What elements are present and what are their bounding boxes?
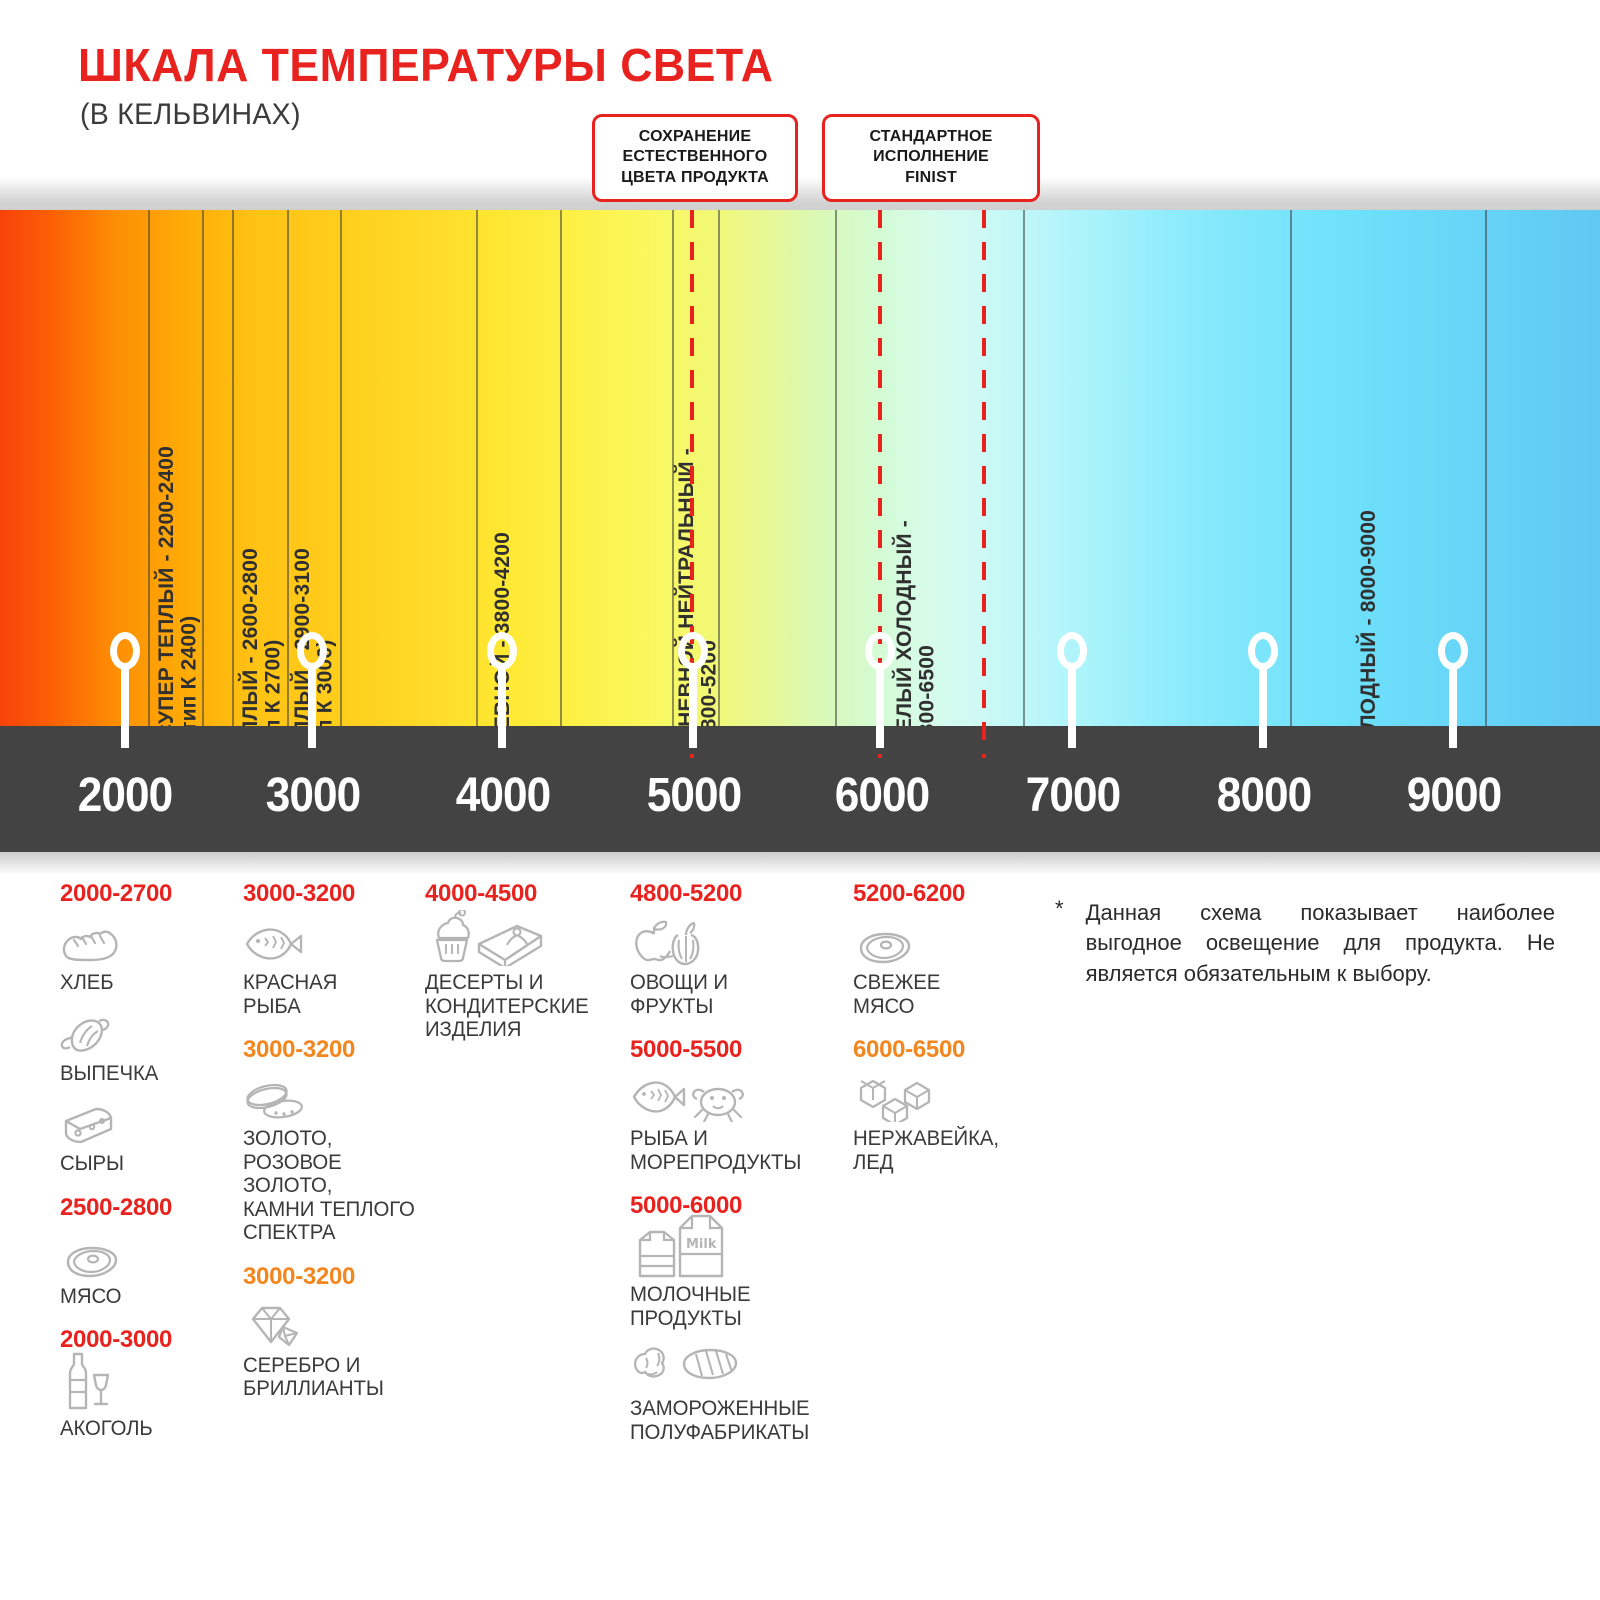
dashed-line-finist-end <box>982 210 986 758</box>
band-separator <box>340 210 342 726</box>
legend-item-label: ВЫПЕЧКА <box>60 1062 235 1086</box>
pin-head <box>865 632 895 670</box>
legend-group: 3000-3200СЕРЕБРО ИБРИЛЛИАНТЫ <box>243 1263 423 1401</box>
scale-tick-9000: 9000 <box>1407 768 1502 823</box>
pin-stem <box>689 666 697 748</box>
svg-text:Milk: Milk <box>686 1237 717 1252</box>
frozen-food-icon <box>630 1340 855 1392</box>
legend-item-label: ДЕСЕРТЫ ИКОНДИТЕРСКИЕИЗДЕЛИЯ <box>425 971 619 1042</box>
band-separator <box>835 210 837 726</box>
legend-item: АКОГОЛЬ <box>60 1360 240 1441</box>
legend-item: ОВОЩИ ИФРУКТЫ <box>630 914 855 1018</box>
pin-stem <box>1068 666 1076 748</box>
pin-stem <box>1259 666 1267 748</box>
legend-item-label: СЕРЕБРО ИБРИЛЛИАНТЫ <box>243 1354 418 1401</box>
band-label-white-cold: БЕЛЫЙ ХОЛОДНЫЙ -5800-6500 <box>894 520 939 726</box>
legend-range-label: 3000-3200 <box>243 1036 423 1064</box>
legend-column-3: 4000-4500ДЕСЕРТЫ ИКОНДИТЕРСКИЕИЗДЕЛИЯ <box>425 880 625 1060</box>
ice-cubes-icon <box>853 1070 1033 1122</box>
scale-tick-4000: 4000 <box>456 768 551 823</box>
milk-carton-icon: Milk <box>630 1226 855 1278</box>
bread-icon <box>60 914 240 966</box>
callout-line-1: СТАНДАРТНОЕ <box>837 127 1025 147</box>
footnote-marker: * <box>1055 898 1064 989</box>
legend-column-1: 2000-2700ХЛЕБВЫПЕЧКАСЫРЫ2500-2800МЯСО200… <box>60 880 240 1459</box>
legend-group: 6000-6500НЕРЖАВЕЙКА,ЛЕД <box>853 1036 1033 1174</box>
legend-column-2: 3000-3200КРАСНАЯРЫБА3000-3200ЗОЛОТО,РОЗО… <box>243 880 423 1419</box>
legend-group: 2500-2800МЯСО <box>60 1194 240 1309</box>
legend-item: ДЕСЕРТЫ ИКОНДИТЕРСКИЕИЗДЕЛИЯ <box>425 914 625 1042</box>
legend-item: РЫБА ИМОРЕПРОДУКТЫ <box>630 1070 855 1174</box>
legend-group: 4800-5200ОВОЩИ ИФРУКТЫ <box>630 880 855 1018</box>
pin-stem <box>121 666 129 748</box>
legend-item: ХЛЕБ <box>60 914 240 995</box>
legend-item: СЫРЫ <box>60 1095 240 1176</box>
footnote: * Данная схема показывает наиболее выгод… <box>1055 898 1555 989</box>
scale-tick-8000: 8000 <box>1217 768 1312 823</box>
legend-item-label: МЯСО <box>60 1285 235 1309</box>
scale-tick-2000: 2000 <box>78 768 173 823</box>
band-separator <box>202 210 204 726</box>
legend-item: СВЕЖЕЕМЯСО <box>853 914 1033 1018</box>
scale-tick-5000: 5000 <box>647 768 742 823</box>
legend-item: МЯСО <box>60 1228 240 1309</box>
legend-item-label: ХЛЕБ <box>60 971 235 995</box>
legend-range-label: 4800-5200 <box>630 880 855 908</box>
legend-item-label: ЗАМОРОЖЕННЫЕПОЛУФАБРИКАТЫ <box>630 1397 848 1444</box>
band-label-super-warm: СУПЕР ТЕПЛЫЙ - 2200-2400(тип К 2400) <box>156 446 201 726</box>
page-title: ШКАЛА ТЕМПЕРАТУРЫ СВЕТА <box>78 38 774 92</box>
callout-line-2: ЕСТЕСТВЕННОГО <box>607 147 783 167</box>
legend-range-label: 5200-6200 <box>853 880 1033 908</box>
legend-item: НЕРЖАВЕЙКА,ЛЕД <box>853 1070 1033 1174</box>
legend-item-label: НЕРЖАВЕЙКА,ЛЕД <box>853 1127 1028 1174</box>
band-separator <box>560 210 562 726</box>
legend-group: 3000-3200ЗОЛОТО,РОЗОВОЕ ЗОЛОТО,КАМНИ ТЕП… <box>243 1036 423 1245</box>
legend-item: СЕРЕБРО ИБРИЛЛИАНТЫ <box>243 1297 423 1401</box>
callout-standard-finist: СТАНДАРТНОЕ ИСПОЛНЕНИЕ FINIST <box>822 114 1040 202</box>
legend-group: 5200-6200СВЕЖЕЕМЯСО <box>853 880 1033 1018</box>
pin-stem <box>1449 666 1457 748</box>
legend-range-label: 2500-2800 <box>60 1194 240 1222</box>
band-label-warm-2700: ТЕПЛЫЙ - 2600-2800(тип К 2700) <box>240 548 285 726</box>
legend-group: 2000-2700ХЛЕБВЫПЕЧКАСЫРЫ <box>60 880 240 1176</box>
pin-head <box>1057 632 1087 670</box>
legend-item: КРАСНАЯРЫБА <box>243 914 423 1018</box>
pin-head <box>678 632 708 670</box>
scale-tick-6000: 6000 <box>835 768 930 823</box>
apple-pepper-icon <box>630 914 855 966</box>
pin-stem <box>876 666 884 748</box>
callout-line-3: ЦВЕТА ПРОДУКТА <box>607 168 783 188</box>
legend-group: 2000-3000АКОГОЛЬ <box>60 1326 240 1441</box>
page-subtitle: (В КЕЛЬВИНАХ) <box>80 98 301 132</box>
scale-tick-3000: 3000 <box>266 768 361 823</box>
legend-group: 3000-3200КРАСНАЯРЫБА <box>243 880 423 1018</box>
band-separator <box>476 210 478 726</box>
band-separator <box>672 210 674 726</box>
legend-item: MilkМОЛОЧНЫЕ ПРОДУКТЫ <box>630 1226 855 1330</box>
pin-head <box>297 632 327 670</box>
legend-item-label: РЫБА ИМОРЕПРОДУКТЫ <box>630 1127 848 1174</box>
legend-range-label: 2000-2700 <box>60 880 240 908</box>
pin-stem <box>308 666 316 748</box>
kelvin-scale-bar: 2000 3000 4000 5000 6000 7000 8000 9000 <box>0 726 1600 852</box>
footnote-text: Данная схема показывает наиболее выгодно… <box>1086 898 1555 989</box>
band-label-cold: ХОЛОДНЫЙ - 8000-9000 <box>1358 510 1381 726</box>
legend-item-label: ОВОЩИ ИФРУКТЫ <box>630 971 848 1018</box>
fish-crab-icon <box>630 1070 855 1122</box>
band-separator <box>1023 210 1025 726</box>
scalebar-bottom-shadow <box>0 852 1600 874</box>
legend-item-label: ЗОЛОТО,РОЗОВОЕ ЗОЛОТО,КАМНИ ТЕПЛОГОСПЕКТ… <box>243 1127 418 1245</box>
band-separator <box>287 210 289 726</box>
croissant-icon <box>60 1005 240 1057</box>
scale-tick-7000: 7000 <box>1026 768 1121 823</box>
spectrum-strip: СУПЕР ТЕПЛЫЙ - 2200-2400(тип К 2400) ТЕП… <box>0 210 1600 726</box>
band-separator <box>148 210 150 726</box>
pin-head <box>487 632 517 670</box>
steak-icon <box>853 914 1033 966</box>
band-separator <box>1290 210 1292 726</box>
gold-rings-icon <box>243 1070 423 1122</box>
band-separator <box>1485 210 1487 726</box>
pin-head <box>110 632 140 670</box>
callout-line-2: ИСПОЛНЕНИЕ <box>837 147 1025 167</box>
bottle-glass-icon <box>60 1360 240 1412</box>
legend-item-label: КРАСНАЯРЫБА <box>243 971 418 1018</box>
legend-group: 5000-6000MilkМОЛОЧНЫЕ ПРОДУКТЫЗАМОРОЖЕНН… <box>630 1192 855 1444</box>
band-separator <box>232 210 234 726</box>
callout-line-1: СОХРАНЕНИЕ <box>607 127 783 147</box>
legend-range-label: 3000-3200 <box>243 880 423 908</box>
legend-item-label: МОЛОЧНЫЕ ПРОДУКТЫ <box>630 1283 848 1330</box>
diamond-icon <box>243 1297 423 1349</box>
legend-range-label: 3000-3200 <box>243 1263 423 1291</box>
pin-head <box>1248 632 1278 670</box>
band-label-daylight-neutral: ДНЕВНОЙ НЕЙТРАЛЬНЫЙ -4800-5200 <box>676 448 721 726</box>
fish-icon <box>243 914 423 966</box>
pin-stem <box>498 666 506 748</box>
legend-range-label: 5000-5500 <box>630 1036 855 1064</box>
strip-top-shadow <box>0 178 1600 210</box>
legend-item: ВЫПЕЧКА <box>60 1005 240 1086</box>
legend-item-label: СЫРЫ <box>60 1152 235 1176</box>
legend-item-label: СВЕЖЕЕМЯСО <box>853 971 1028 1018</box>
legend-item-label: АКОГОЛЬ <box>60 1417 235 1441</box>
callout-line-3: FINIST <box>837 168 1025 188</box>
legend-group: 4000-4500ДЕСЕРТЫ ИКОНДИТЕРСКИЕИЗДЕЛИЯ <box>425 880 625 1042</box>
steak-icon <box>60 1228 240 1280</box>
legend-item: ЗОЛОТО,РОЗОВОЕ ЗОЛОТО,КАМНИ ТЕПЛОГОСПЕКТ… <box>243 1070 423 1245</box>
legend-column-5: 5200-6200СВЕЖЕЕМЯСО6000-6500НЕРЖАВЕЙКА,Л… <box>853 880 1033 1192</box>
legend-range-label: 4000-4500 <box>425 880 625 908</box>
legend-item: ЗАМОРОЖЕННЫЕПОЛУФАБРИКАТЫ <box>630 1340 855 1444</box>
infographic-root: ШКАЛА ТЕМПЕРАТУРЫ СВЕТА (В КЕЛЬВИНАХ) СО… <box>0 0 1600 1600</box>
legend-group: 5000-5500РЫБА ИМОРЕПРОДУКТЫ <box>630 1036 855 1174</box>
callout-natural-color: СОХРАНЕНИЕ ЕСТЕСТВЕННОГО ЦВЕТА ПРОДУКТА <box>592 114 798 202</box>
cheese-icon <box>60 1095 240 1147</box>
legend-column-4: 4800-5200ОВОЩИ ИФРУКТЫ5000-5500РЫБА ИМОР… <box>630 880 855 1462</box>
pin-head <box>1438 632 1468 670</box>
legend-range-label: 6000-6500 <box>853 1036 1033 1064</box>
cake-dessert-icon <box>425 914 625 966</box>
